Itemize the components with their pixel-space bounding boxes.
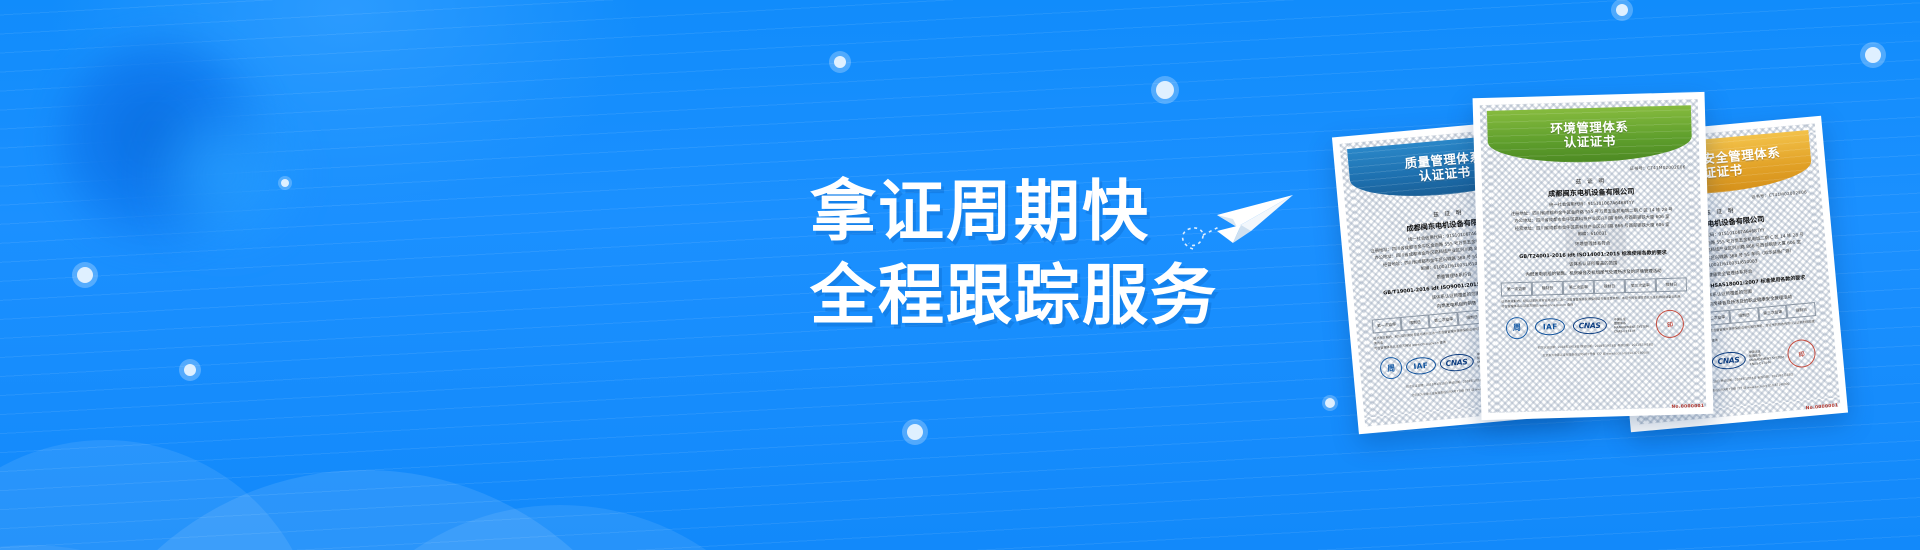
red-seal-stamp-icon: 印 — [1653, 307, 1686, 340]
certificate-audit-cell: 限制日 — [1729, 307, 1759, 324]
certificate-serial: No.0000001 — [1671, 404, 1704, 410]
cnas-caption: 中国认证管理体系 MANAGEMENT SYSTEM CNAS-C174-M — [1614, 316, 1649, 333]
certificate-card[interactable]: H 环境管理体系 认证证书 证书号：CT41M02002E06 兹 证 明 成都… — [1473, 92, 1714, 420]
decorative-dot — [1865, 47, 1881, 63]
certificate-audit-table: 第一次监审限制日第二次监审限制日第三次监审限制日 — [1501, 277, 1687, 297]
certificate-audit-cell: 第一次监审 — [1501, 281, 1532, 297]
certificate-issuer: 北京东方中泰认证有限责任公司4号7号楼 777 层 www.bzcn.org 0… — [1501, 349, 1691, 359]
certificate-audit-cell: 限制日 — [1532, 280, 1563, 296]
decorative-dot — [834, 56, 846, 68]
cnas-logo-icon: CNAS — [1439, 352, 1474, 372]
certificate-logos: 周 IAF CNAS 中国认证管理体系 MANAGEMENT SYSTEM CN… — [1506, 309, 1685, 342]
decorative-dot — [1616, 4, 1628, 16]
decorative-dot — [1325, 398, 1335, 408]
certificate-group: H 质量管理体系 认证证书 证书号：CTG30Q002E06 兹 证 明 成都闽… — [1345, 85, 1920, 465]
certificate-serial: No.0000001 — [1806, 403, 1839, 411]
background-glow-blob-secondary — [135, 95, 315, 255]
cnas-logo-icon: CNAS — [1572, 317, 1606, 335]
certificate-audit-cell: 限制日 — [1594, 279, 1625, 295]
certificate-audit-cell: 第二次监审 — [1429, 311, 1459, 328]
decorative-dot — [1156, 81, 1174, 99]
headline-line-1: 拿证周期快 — [810, 170, 1218, 254]
cnas-caption: 中国认证管理体系 MANAGEMENT SYSTEM CNAS-C174-M — [1749, 347, 1785, 366]
promo-banner: 拿证周期快 全程跟踪服务 H 质量管理体系 认证证书 证书号：CTG30Q002… — [0, 0, 1920, 550]
certificate-audit-cell: 限制日 — [1786, 302, 1816, 319]
headline-line-2: 全程跟踪服务 — [810, 254, 1218, 338]
certificate-audit-cell: 第三次监审 — [1625, 278, 1656, 294]
iaf-logo-icon: IAF — [1405, 356, 1436, 376]
certificate-scope: 内燃发电机组的销售、机房噪音及机组尾气处理所涉及的环境管理活动 — [1498, 267, 1688, 278]
zhou-logo-icon: 周 — [1379, 356, 1403, 380]
decorative-dot — [281, 179, 289, 187]
certificate-audit-cell: 第三次监审 — [1758, 304, 1788, 321]
certificate-header: 环境管理体系 认证证书 — [1487, 105, 1692, 165]
iaf-logo-icon: IAF — [1535, 318, 1565, 336]
certificate-audit-cell: 限制日 — [1400, 314, 1430, 331]
certificate-footnote: 证书有效期内，经认证机构对本证书进行三次一次监督管理并获得保持证书有效性声明，本… — [1501, 295, 1687, 309]
headline: 拿证周期快 全程跟踪服务 — [810, 170, 1218, 339]
paper-plane-icon — [1175, 175, 1315, 270]
zhou-logo-icon: 周 — [1506, 316, 1529, 339]
decorative-dot — [77, 267, 93, 283]
certificate-number: 证书号：CT41M02002E06 — [1496, 164, 1686, 175]
cnas-logo-icon: CNAS — [1711, 350, 1746, 370]
certificate-audit-cell: 第一次监审 — [1372, 317, 1402, 334]
certificate-audit-cell: 限制日 — [1656, 277, 1687, 293]
certificate-header-line-2: 认证证书 — [1564, 134, 1616, 149]
red-seal-stamp-icon: 印 — [1784, 337, 1818, 371]
decorative-dot — [184, 364, 196, 376]
decorative-dot — [907, 424, 923, 440]
certificate-audit-cell: 第二次监审 — [1563, 280, 1594, 296]
